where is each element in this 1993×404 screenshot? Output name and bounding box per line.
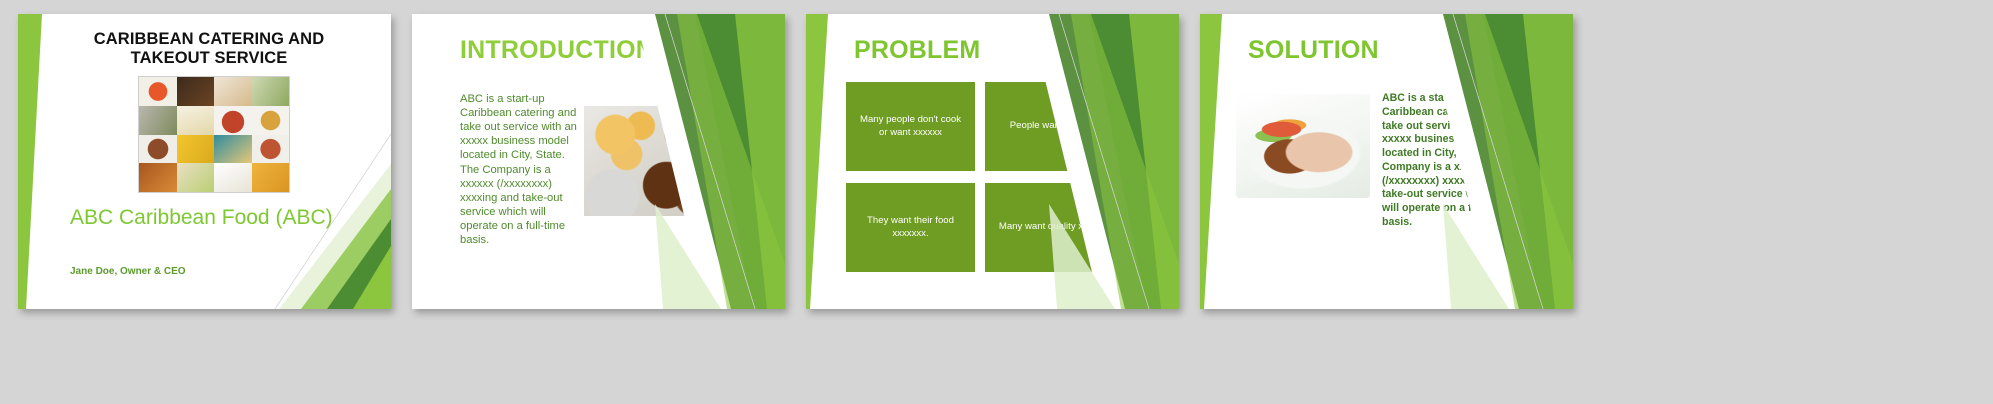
slide-thumbnail-solution[interactable]: SOLUTION ABC is a start-up Caribbean cat… xyxy=(1200,14,1573,309)
left-green-accent xyxy=(18,14,48,309)
slide1-main-title: ABC Caribbean Food (ABC) xyxy=(70,206,370,229)
slide1-heading: CARIBBEAN CATERING AND TAKEOUT SERVICE xyxy=(70,30,348,69)
jerk-chicken-rice-peas-plate xyxy=(1236,94,1370,198)
caribbean-dishes-photo xyxy=(584,106,726,216)
food-collage-image xyxy=(138,76,290,193)
slide1-byline: Jane Doe, Owner & CEO xyxy=(70,266,186,277)
slide-thumbnail-problem[interactable]: PROBLEM Many people don't cook or want x… xyxy=(806,14,1179,309)
slide-thumbnail-introduction[interactable]: INTRODUCTION ABC is a start-up Caribbean… xyxy=(412,14,785,309)
slide-thumbnail-strip: CARIBBEAN CATERING AND TAKEOUT SERVICE A… xyxy=(0,0,1993,404)
problem-box[interactable]: Many people don't cook or want xxxxxx xyxy=(846,82,975,171)
left-green-accent xyxy=(806,14,832,309)
problem-box[interactable]: Many want quality xxxx. xyxy=(985,183,1114,272)
problem-box[interactable]: People want xxxxx xyxy=(985,82,1114,171)
left-green-accent xyxy=(1200,14,1226,309)
problem-box-grid: Many people don't cook or want xxxxxx Pe… xyxy=(846,82,1114,272)
slide4-body-text: ABC is a start-up Caribbean catering and… xyxy=(1382,92,1512,230)
slide2-heading: INTRODUCTION xyxy=(460,36,654,65)
slide4-heading: SOLUTION xyxy=(1248,36,1379,65)
slide3-heading: PROBLEM xyxy=(854,36,980,65)
problem-box[interactable]: They want their food xxxxxxx. xyxy=(846,183,975,272)
slide-thumbnail-title[interactable]: CARIBBEAN CATERING AND TAKEOUT SERVICE A… xyxy=(18,14,391,309)
slide2-body-text: ABC is a start-up Caribbean catering and… xyxy=(460,92,578,247)
